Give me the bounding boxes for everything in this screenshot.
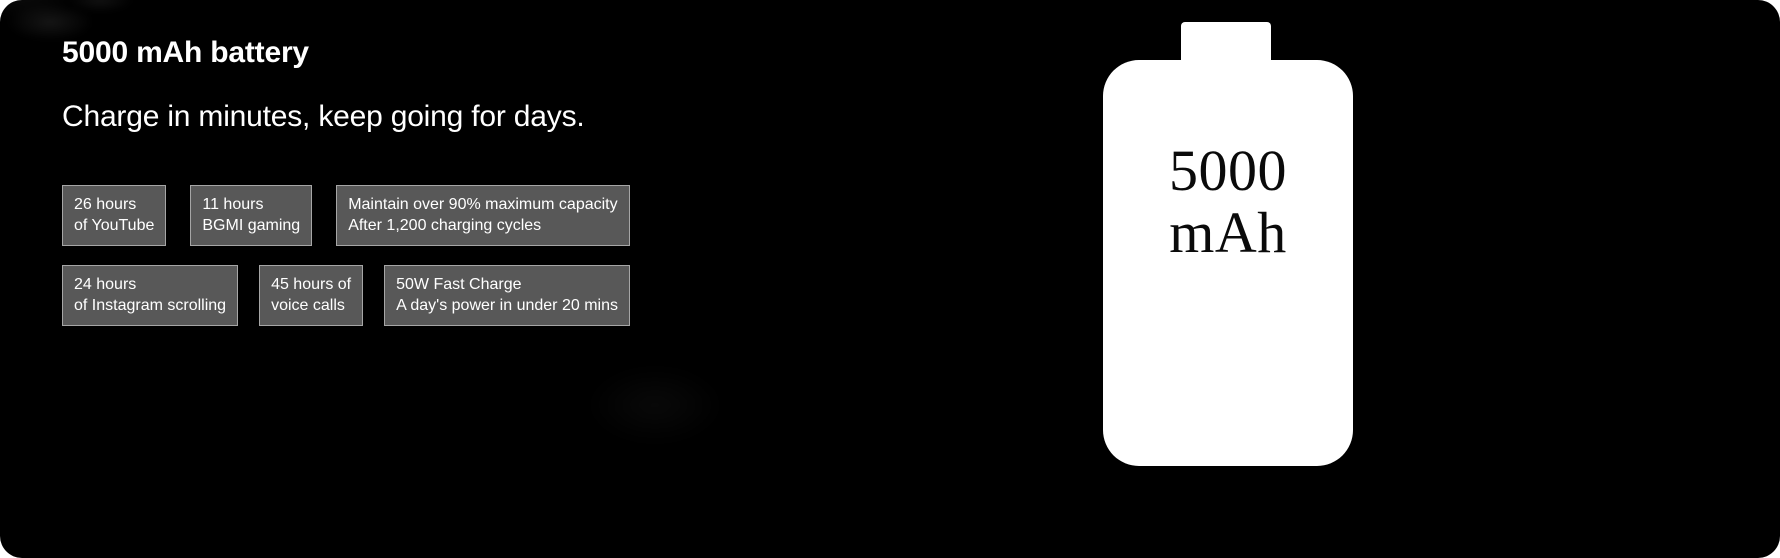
spec-chip-line-2: of Instagram scrolling [74, 295, 226, 316]
spec-chip-line-2: After 1,200 charging cycles [348, 215, 617, 236]
spec-chip-line-1: Maintain over 90% maximum capacity [348, 194, 617, 215]
spec-chip-line-2: voice calls [271, 295, 351, 316]
spec-chip: 24 hours of Instagram scrolling [62, 265, 238, 326]
spec-chip: 50W Fast Charge A day's power in under 2… [384, 265, 630, 326]
spec-chip-row-1: 26 hours of YouTube 11 hours BGMI gaming… [62, 185, 822, 246]
battery-capacity-label: 5000 mAh [1103, 140, 1353, 264]
battery-capacity-value: 5000 [1169, 138, 1287, 203]
spec-chip-line-1: 26 hours [74, 194, 154, 215]
page-subtitle: Charge in minutes, keep going for days. [62, 100, 585, 134]
spec-chip-line-2: A day's power in under 20 mins [396, 295, 618, 316]
spec-chip: 45 hours of voice calls [259, 265, 363, 326]
spec-chip-line-1: 11 hours [202, 194, 300, 215]
spec-chip-line-1: 24 hours [74, 274, 226, 295]
battery-feature-card: 5000 mAh battery Charge in minutes, keep… [0, 0, 1780, 558]
battery-capacity-unit: mAh [1103, 202, 1353, 264]
spec-chip: Maintain over 90% maximum capacity After… [336, 185, 629, 246]
spec-chip-line-1: 50W Fast Charge [396, 274, 618, 295]
battery-icon: 5000 mAh [1103, 22, 1353, 466]
card-content: 5000 mAh battery Charge in minutes, keep… [0, 0, 1780, 558]
spec-chip-line-2: BGMI gaming [202, 215, 300, 236]
page-title: 5000 mAh battery [62, 36, 309, 70]
screenshot-stage: 5000 mAh battery Charge in minutes, keep… [0, 0, 1780, 558]
spec-chip-line-1: 45 hours of [271, 274, 351, 295]
spec-chip: 11 hours BGMI gaming [190, 185, 312, 246]
spec-chip-row-2: 24 hours of Instagram scrolling 45 hours… [62, 265, 822, 326]
spec-chip-line-2: of YouTube [74, 215, 154, 236]
spec-chip-group: 26 hours of YouTube 11 hours BGMI gaming… [62, 185, 822, 345]
spec-chip: 26 hours of YouTube [62, 185, 166, 246]
